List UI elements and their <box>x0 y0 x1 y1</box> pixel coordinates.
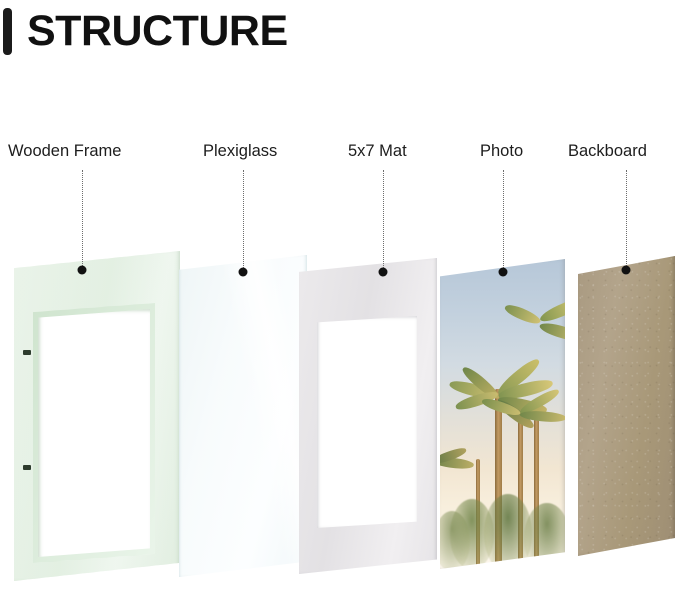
label-wooden-frame: Wooden Frame <box>8 143 121 160</box>
mat-window-opening <box>317 316 417 528</box>
frame-clip-tab-top <box>23 350 31 355</box>
frame-clip-tab-bottom <box>23 465 31 470</box>
palm-understory-3 <box>524 503 565 569</box>
layer-wooden-frame[interactable] <box>14 251 180 581</box>
callout-dot-wooden-frame <box>78 266 87 275</box>
label-plexiglass: Plexiglass <box>203 143 277 160</box>
leader-line-wooden-frame <box>82 170 83 270</box>
label-backboard: Backboard <box>568 143 647 160</box>
palm-frond-k <box>538 296 565 324</box>
callout-dot-photo <box>499 268 508 277</box>
leader-line-plexiglass <box>243 170 244 272</box>
plexiglass-sheen <box>179 255 307 577</box>
leader-line-backboard <box>626 170 627 270</box>
leader-line-photo <box>503 170 504 272</box>
leader-line-mat <box>383 170 384 272</box>
palm-frond-l <box>538 319 565 344</box>
label-mat: 5x7 Mat <box>348 143 407 160</box>
frame-opening <box>38 309 150 557</box>
layer-photo[interactable] <box>440 259 565 569</box>
callout-dot-plexiglass <box>239 268 248 277</box>
callout-dot-mat <box>379 268 388 277</box>
layer-plexiglass[interactable] <box>179 255 307 577</box>
callout-dot-backboard <box>622 266 631 275</box>
label-photo: Photo <box>480 143 523 160</box>
layer-backboard[interactable] <box>578 256 675 556</box>
layer-mat[interactable] <box>299 258 437 574</box>
palm-frond-m <box>503 301 542 327</box>
backboard-texture <box>578 256 675 556</box>
exploded-diagram: Wooden Frame Plexiglass 5x7 Mat Photo Ba… <box>0 0 679 592</box>
